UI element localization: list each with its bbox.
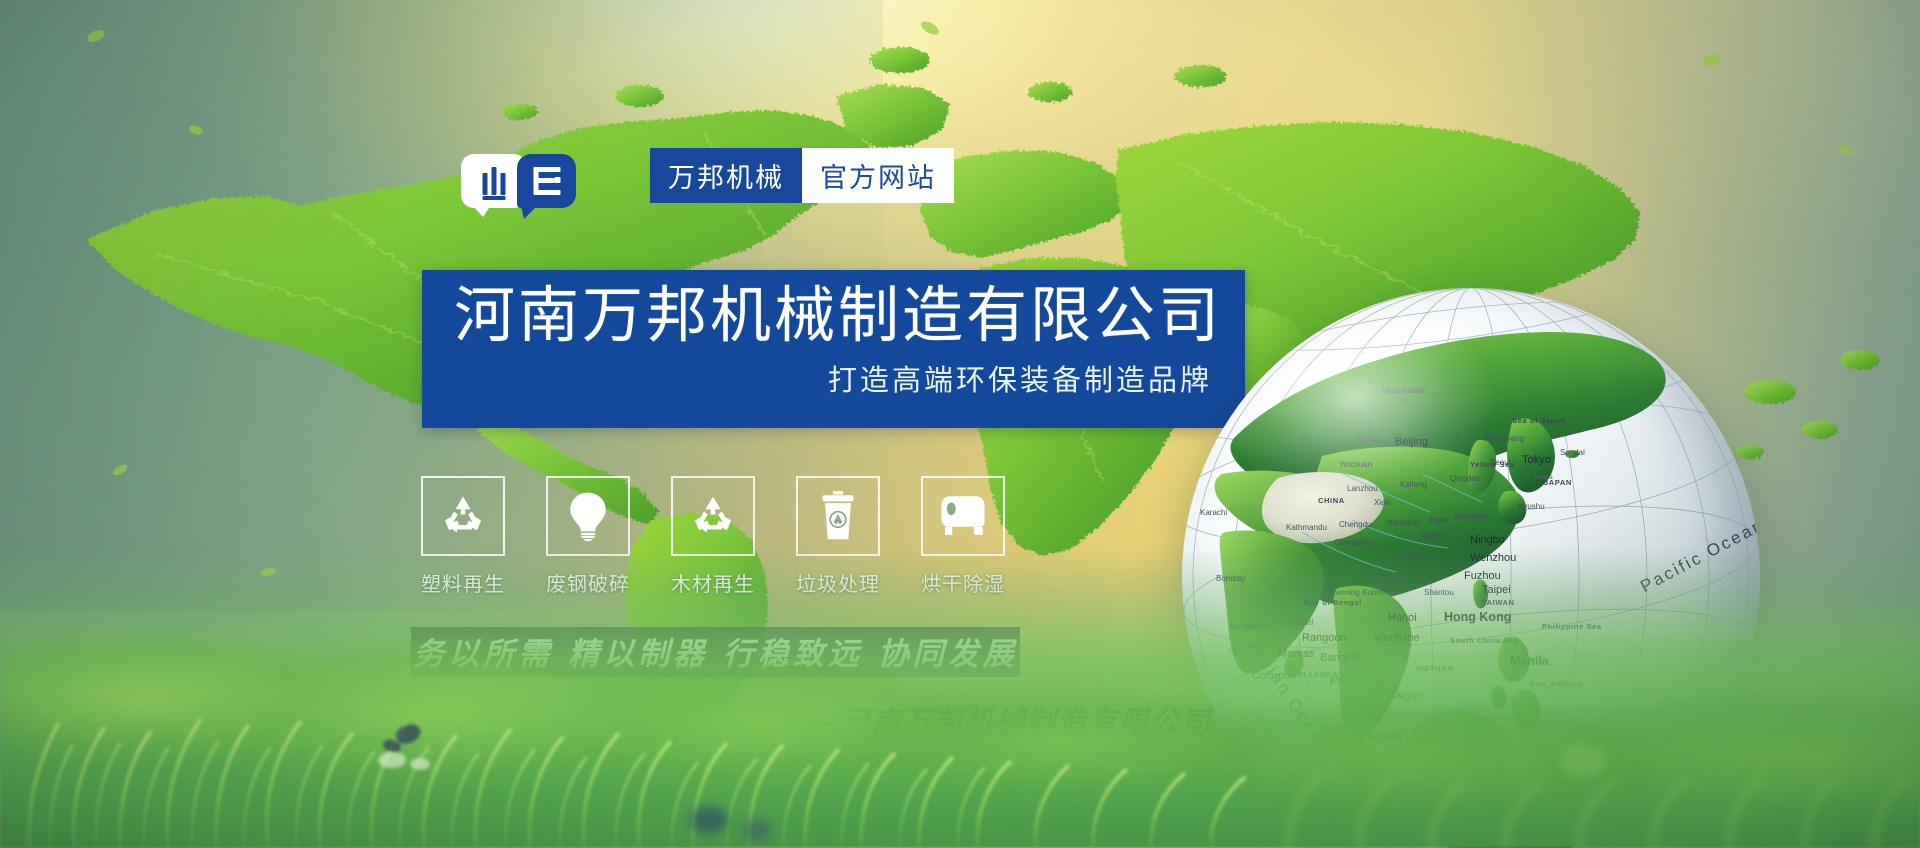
bokeh-dot (1560, 744, 1606, 778)
service-icon-box (796, 476, 880, 556)
hero-banner: 万邦机械 官方网站 河南万邦机械制造有限公司 打造高端环保装备制造品牌 (0, 0, 1920, 848)
globe-city-label: Kyushu (1518, 502, 1545, 511)
globe-city-label: Qingdao (1450, 474, 1480, 483)
grass-blades (0, 548, 1920, 848)
brand-logo[interactable] (461, 152, 576, 210)
globe-city-label: Nanyang (1387, 518, 1419, 527)
globe-city-label: Xian (1374, 498, 1390, 507)
globe-city-label: Beijing (1395, 436, 1428, 448)
globe-city-label: Chongqing (1334, 538, 1373, 547)
lightbulb-icon (565, 491, 611, 541)
bokeh-dot (742, 818, 772, 842)
dryer-drum-icon (936, 494, 990, 538)
globe-region-label: Yellow Sea (1470, 460, 1515, 469)
globe-city-label: Kaifeng (1400, 480, 1427, 489)
globe-city-label: Chengdu (1339, 520, 1371, 529)
globe-city-label: Ulaanbaatar (1382, 386, 1426, 395)
globe-city-label: Tokyo (1522, 454, 1551, 466)
logo-b-mark (517, 154, 576, 208)
brand-tabs: 万邦机械 官方网站 (650, 148, 954, 203)
company-slogan: 打造高端环保装备制造品牌 (828, 364, 1212, 399)
logo-b-glyph (533, 167, 560, 195)
logo-w-glyph (483, 167, 506, 195)
globe-city-label: Shanghai (1454, 512, 1488, 521)
globe-city-label: Kathmandu (1286, 523, 1327, 532)
globe-region-label: Sea of Japan (1512, 416, 1565, 425)
service-icon-box (421, 476, 505, 556)
trash-bin-icon (818, 491, 858, 541)
globe-city-label: Hefei (1430, 516, 1449, 525)
globe-city-label: Ningbo (1470, 534, 1505, 546)
service-icon-box (546, 476, 630, 556)
recycle-icon (438, 492, 488, 540)
tab-official-site[interactable]: 官方网站 (802, 148, 954, 203)
service-icon-box (921, 476, 1005, 556)
globe-region-label: JAPAN (1544, 478, 1572, 487)
bokeh-dot (690, 806, 728, 834)
hero-title-panel: 河南万邦机械制造有限公司 打造高端环保装备制造品牌 (422, 270, 1245, 428)
globe-region-label: CHINA (1318, 496, 1345, 505)
globe-city-label: Karachi (1200, 508, 1227, 517)
globe-city-label: Sendai (1560, 448, 1585, 457)
globe-city-label: Yinchuan (1339, 460, 1372, 469)
globe-city-label: Lanzhou (1347, 484, 1378, 493)
recycle-icon (688, 492, 738, 540)
globe-city-label: Baotou (1355, 434, 1380, 443)
globe-city-label: Pyongyang (1484, 434, 1524, 443)
company-title: 河南万邦机械制造有限公司 (454, 281, 1222, 349)
tab-company-name[interactable]: 万邦机械 (650, 148, 802, 203)
logo-b-dot (554, 177, 560, 183)
service-icon-box (671, 476, 755, 556)
globe-city-label: Wuhan (1420, 532, 1445, 541)
